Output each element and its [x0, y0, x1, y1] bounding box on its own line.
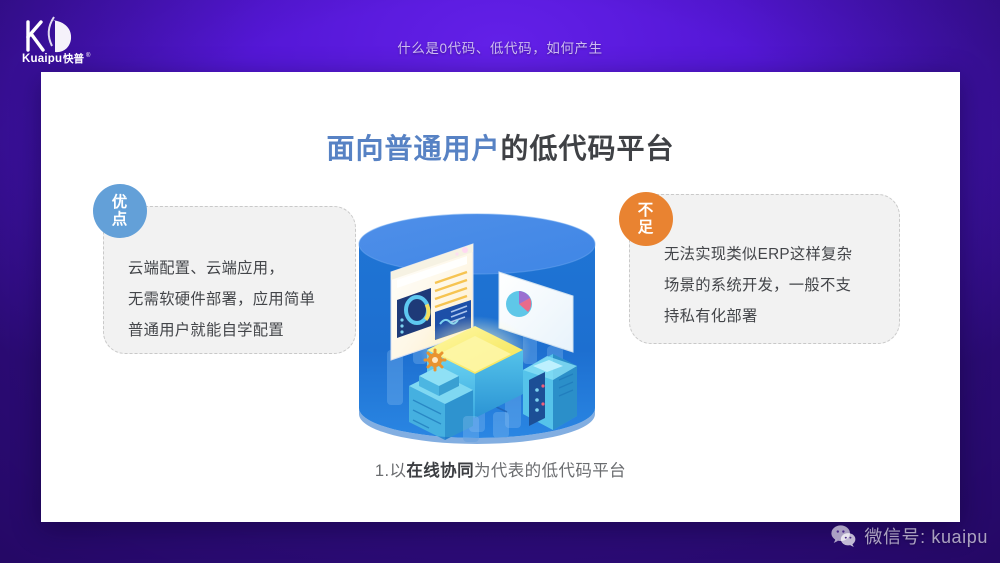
svg-text:Kuaipu: Kuaipu [22, 53, 62, 64]
pros-line-3: 普通用户就能自学配置 [128, 315, 339, 346]
pros-badge-line-1: 优 [112, 194, 129, 211]
wechat-watermark: 微信号: kuaipu [830, 523, 988, 549]
page-title: 面向普通用户的低代码平台 [41, 127, 960, 167]
svg-text:快普: 快普 [62, 52, 84, 64]
pros-box: 云端配置、云端应用， 无需软硬件部署，应用简单 普通用户就能自学配置 [103, 206, 356, 354]
cons-badge: 不 足 [619, 192, 673, 246]
cons-badge-line-1: 不 [638, 202, 655, 219]
isometric-cloud-platform-illustration [347, 200, 607, 452]
cons-line-3: 持私有化部署 [664, 301, 889, 332]
page-title-plain: 的低代码平台 [501, 133, 675, 164]
pros-badge-line-2: 点 [112, 211, 129, 228]
cons-badge-line-2: 足 [638, 219, 655, 236]
slide-card: 面向普通用户的低代码平台 云端配置、云端应用， 无需软硬件部署，应用简单 普通用… [41, 72, 960, 522]
slide-screenshot: Kuaipu 快普 ® 什么是0代码、低代码，如何产生 面向普通用户的低代码平台… [0, 0, 1000, 563]
pros-line-2: 无需软硬件部署，应用简单 [128, 284, 339, 315]
wechat-watermark-text: 微信号: kuaipu [864, 523, 988, 549]
pros-badge: 优 点 [93, 184, 147, 238]
caption-suffix: 为代表的低代码平台 [474, 462, 626, 480]
cons-text: 无法实现类似ERP这样复杂 场景的系统开发，一般不支 持私有化部署 [664, 239, 889, 332]
illustration-caption: 1.以在线协同为代表的低代码平台 [41, 457, 960, 481]
page-title-accent: 面向普通用户 [326, 133, 500, 164]
header-title: 什么是0代码、低代码，如何产生 [0, 37, 1000, 57]
caption-bold: 在线协同 [406, 462, 474, 480]
kuaipu-logo: Kuaipu 快普 ® [14, 12, 100, 64]
svg-text:®: ® [86, 52, 91, 59]
caption-prefix: 1.以 [375, 462, 406, 480]
pros-line-1: 云端配置、云端应用， [128, 253, 339, 284]
wechat-icon [830, 523, 856, 549]
cons-line-1: 无法实现类似ERP这样复杂 [664, 239, 889, 270]
cons-line-2: 场景的系统开发，一般不支 [664, 270, 889, 301]
pros-text: 云端配置、云端应用， 无需软硬件部署，应用简单 普通用户就能自学配置 [128, 253, 339, 346]
